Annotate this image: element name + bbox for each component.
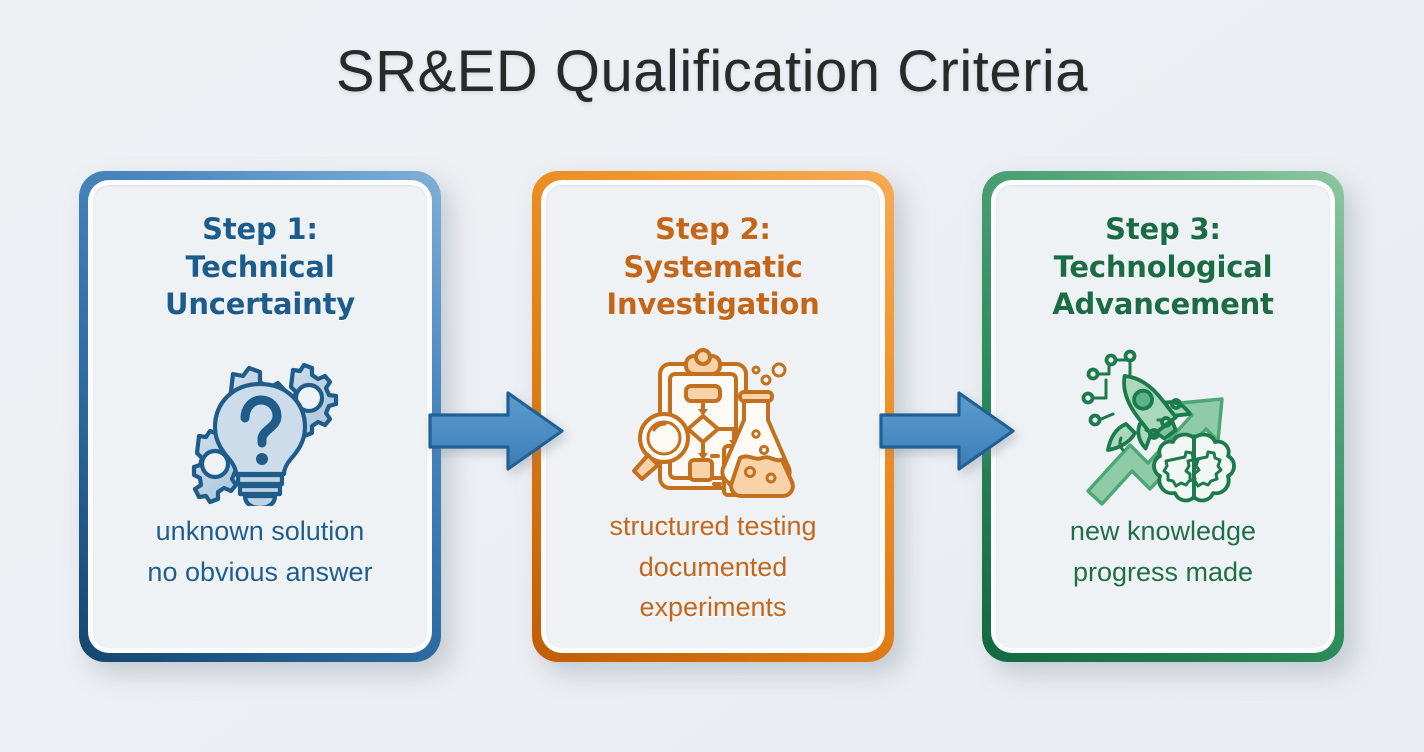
- step-card-1-caption: unknown solution no obvious answer: [147, 511, 372, 592]
- step-card-3-caption: new knowledge progress made: [1070, 511, 1256, 592]
- page-title: SR&ED Qualification Criteria: [0, 38, 1424, 105]
- step-card-3-heading: Step 3: Technological Advancement: [1052, 211, 1273, 324]
- rocket-growth-arrow-brain-icon: [1078, 346, 1248, 506]
- step-card-2[interactable]: Step 2: Systematic Investigation: [532, 171, 894, 662]
- step-card-1-inner: Step 1: Technical Uncertainty: [93, 185, 427, 648]
- steps-container: Step 1: Technical Uncertainty: [0, 171, 1424, 671]
- step-card-1-heading: Step 1: Technical Uncertainty: [165, 211, 355, 324]
- step-card-2-caption: structured testing documented experiment…: [562, 506, 864, 628]
- step-card-3[interactable]: Step 3: Technological Advancement: [982, 171, 1344, 662]
- step-card-2-inner: Step 2: Systematic Investigation: [546, 185, 880, 648]
- step-card-2-heading: Step 2: Systematic Investigation: [606, 211, 819, 324]
- clipboard-magnifier-flask-icon: [628, 346, 798, 506]
- lightbulb-question-gears-icon: [175, 346, 345, 506]
- arrow-step1-to-step2: [428, 389, 564, 473]
- step-card-1[interactable]: Step 1: Technical Uncertainty: [79, 171, 441, 662]
- arrow-step2-to-step3: [879, 389, 1015, 473]
- step-card-3-inner: Step 3: Technological Advancement: [996, 185, 1330, 648]
